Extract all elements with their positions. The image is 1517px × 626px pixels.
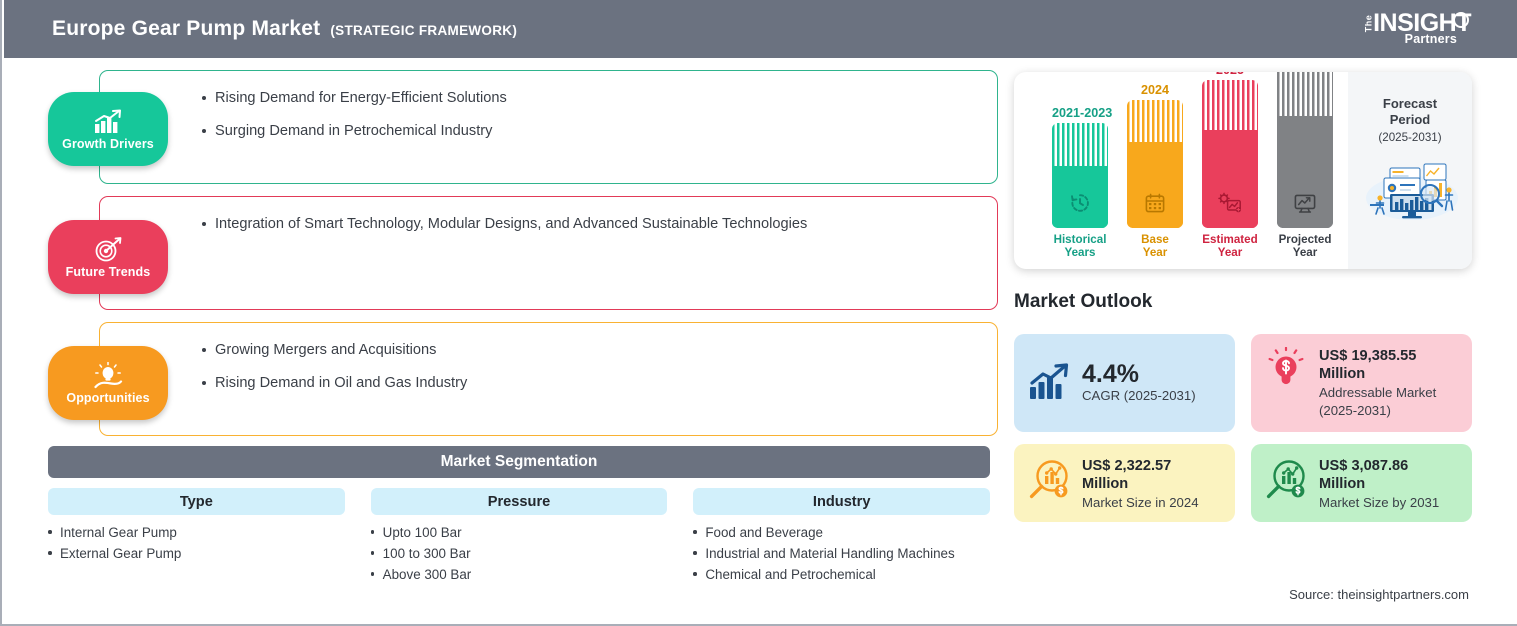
timeline-panel: 2021-2023 Historical [1014,72,1472,269]
list-item: 100 to 300 Bar [371,543,668,564]
card-addressable-text: US$ 19,385.55 Million Addressable Market… [1319,347,1460,419]
list-item: Industrial and Material Handling Machine… [693,543,990,564]
card-value: 4.4% [1082,361,1223,387]
list-item: External Gear Pump [48,543,345,564]
lightbulb-dollar-icon [1263,347,1309,391]
segmentation-column-industry: Industry Food and Beverage Industrial an… [693,488,990,585]
badge-growth-drivers[interactable]: Growth Drivers [48,92,168,166]
column-items: Internal Gear Pump External Gear Pump [48,522,345,564]
column-header: Pressure [371,488,668,515]
timeline-caption: Projected Year [1277,233,1333,259]
list-item: Surging Demand in Petrochemical Industry [202,122,981,140]
caption-line-1: Base [1127,233,1183,246]
lightbulb-hand-icon [91,362,125,390]
segmentation-column-pressure: Pressure Upto 100 Bar 100 to 300 Bar Abo… [371,488,668,585]
badge-label: Future Trends [66,265,151,279]
timeline-item-base: 2024 [1127,83,1183,259]
column-header: Industry [693,488,990,515]
list-item: Chemical and Petrochemical [693,564,990,585]
magnifier-chart-dollar-icon [1263,457,1309,503]
column-items: Food and Beverage Industrial and Materia… [693,522,990,585]
caption-line-2: Year [1202,246,1258,259]
monitor-chart-icon [1293,192,1317,219]
card-value-line-1: US$ 2,322.57 [1082,457,1223,475]
target-dart-icon [91,236,125,264]
badge-label: Opportunities [66,391,149,405]
card-value-line-2: Million [1082,475,1223,493]
card-addressable-market: US$ 19,385.55 Million Addressable Market… [1251,334,1472,432]
market-outlook-cards: 4.4% CAGR (2025-2031) [1014,334,1472,534]
timeline-caption: Historical Years [1052,233,1108,259]
growth-chart-icon [1026,363,1072,403]
band-future-trends-box: Integration of Smart Technology, Modular… [99,196,998,310]
forecast-title: Forecast Period [1383,96,1437,127]
logo-partners: Partners [1405,32,1457,46]
card-value-line-2: Million [1319,475,1460,493]
infographic-page: Europe Gear Pump Market (STRATEGIC FRAME… [0,0,1517,626]
caption-line-2: Years [1052,246,1108,259]
card-market-2031-text: US$ 3,087.86 Million Market Size by 2031 [1319,457,1460,512]
timeline-bars: 2021-2023 Historical [1014,72,1344,269]
timeline-bar [1202,80,1258,228]
badge-opportunities[interactable]: Opportunities [48,346,168,420]
card-market-size-2024: US$ 2,322.57 Million Market Size in 2024 [1014,444,1235,522]
segmentation-columns: Type Internal Gear Pump External Gear Pu… [48,488,990,585]
segmentation-header: Market Segmentation [48,446,990,478]
list-item: Internal Gear Pump [48,522,345,543]
forecast-title-line-1: Forecast [1383,96,1437,112]
forecast-range: (2025-2031) [1378,131,1441,144]
segmentation-column-type: Type Internal Gear Pump External Gear Pu… [48,488,345,585]
timeline-bar [1052,123,1108,228]
calendar-icon [1144,192,1166,219]
insight-partners-logo: The INSIGHT Partners [1360,12,1503,47]
card-value-line-1: US$ 19,385.55 [1319,347,1460,365]
timeline-item-projected: 2031 [1277,72,1333,259]
list-item: Rising Demand in Oil and Gas Industry [202,374,981,392]
caption-line-1: Projected [1277,233,1333,246]
data-analysis-illustration [1354,158,1466,229]
list-item: Above 300 Bar [371,564,668,585]
card-market-size-2031: US$ 3,087.86 Million Market Size by 2031 [1251,444,1472,522]
outlook-card-row-1: 4.4% CAGR (2025-2031) [1014,334,1472,432]
card-value-line-2: Million [1319,365,1460,383]
list-item: Upto 100 Bar [371,522,668,543]
card-market-2024-text: US$ 2,322.57 Million Market Size in 2024 [1082,457,1223,512]
forecast-title-line-2: Period [1383,112,1437,128]
caption-line-2: Year [1127,246,1183,259]
band-opportunities-bullets: Growing Mergers and Acquisitions Rising … [202,341,981,392]
band-future-trends: Integration of Smart Technology, Modular… [48,196,998,310]
card-label: Market Size by 2031 [1319,494,1460,512]
band-growth-drivers: Rising Demand for Energy-Efficient Solut… [48,70,998,184]
band-opportunities: Growing Mergers and Acquisitions Rising … [48,322,998,436]
list-item: Rising Demand for Energy-Efficient Solut… [202,89,981,107]
card-label: Market Size in 2024 [1082,494,1223,512]
outlook-card-row-2: US$ 2,322.57 Million Market Size in 2024 [1014,444,1472,522]
caption-line-1: Historical [1052,233,1108,246]
market-segmentation: Market Segmentation Type Internal Gear P… [48,446,990,585]
card-label-line-1: Addressable Market [1319,384,1460,402]
timeline-year: 2025 [1202,72,1258,77]
study-period-chart: 2021-2023 Historical [1014,72,1472,269]
page-title: Europe Gear Pump Market [52,17,320,41]
column-items: Upto 100 Bar 100 to 300 Bar Above 300 Ba… [371,522,668,585]
history-clock-icon [1069,192,1091,219]
timeline-bar [1127,100,1183,228]
band-growth-drivers-box: Rising Demand for Energy-Efficient Solut… [99,70,998,184]
strategy-bands: Rising Demand for Energy-Efficient Solut… [48,70,998,448]
page-header: Europe Gear Pump Market (STRATEGIC FRAME… [4,0,1517,58]
gear-chart-icon [1218,192,1242,219]
timeline-caption: Estimated Year [1202,233,1258,259]
timeline-item-historical: 2021-2023 Historical [1052,106,1108,259]
source-attribution: Source: theinsightpartners.com [1289,587,1469,602]
logo-circle-icon [1453,12,1469,28]
caption-line-2: Year [1277,246,1333,259]
card-cagr: 4.4% CAGR (2025-2031) [1014,334,1235,432]
card-cagr-text: 4.4% CAGR (2025-2031) [1082,361,1223,405]
market-outlook-title: Market Outlook [1014,291,1152,313]
timeline-item-estimated: 2025 [1202,72,1258,259]
bar-chart-arrow-icon [91,108,125,136]
card-label: CAGR (2025-2031) [1082,387,1223,405]
timeline-year: 2021-2023 [1052,106,1108,120]
logo-the: The [1364,15,1373,33]
list-item: Food and Beverage [693,522,990,543]
badge-label: Growth Drivers [62,137,154,151]
forecast-period-pane: Forecast Period (2025-2031) [1348,72,1472,269]
card-value-line-1: US$ 3,087.86 [1319,457,1460,475]
timeline-year: 2024 [1127,83,1183,97]
list-item: Integration of Smart Technology, Modular… [202,215,981,233]
magnifier-chart-dollar-icon [1026,457,1072,503]
timeline-bar [1277,72,1333,228]
card-label-line-2: (2025-2031) [1319,402,1460,420]
caption-line-1: Estimated [1202,233,1258,246]
list-item: Growing Mergers and Acquisitions [202,341,981,359]
page-subtitle: (STRATEGIC FRAMEWORK) [330,23,517,38]
header-titles: Europe Gear Pump Market (STRATEGIC FRAME… [52,17,517,41]
band-opportunities-box: Growing Mergers and Acquisitions Rising … [99,322,998,436]
band-growth-drivers-bullets: Rising Demand for Energy-Efficient Solut… [202,89,981,140]
timeline-caption: Base Year [1127,233,1183,259]
band-future-trends-bullets: Integration of Smart Technology, Modular… [202,215,981,233]
column-header: Type [48,488,345,515]
badge-future-trends[interactable]: Future Trends [48,220,168,294]
